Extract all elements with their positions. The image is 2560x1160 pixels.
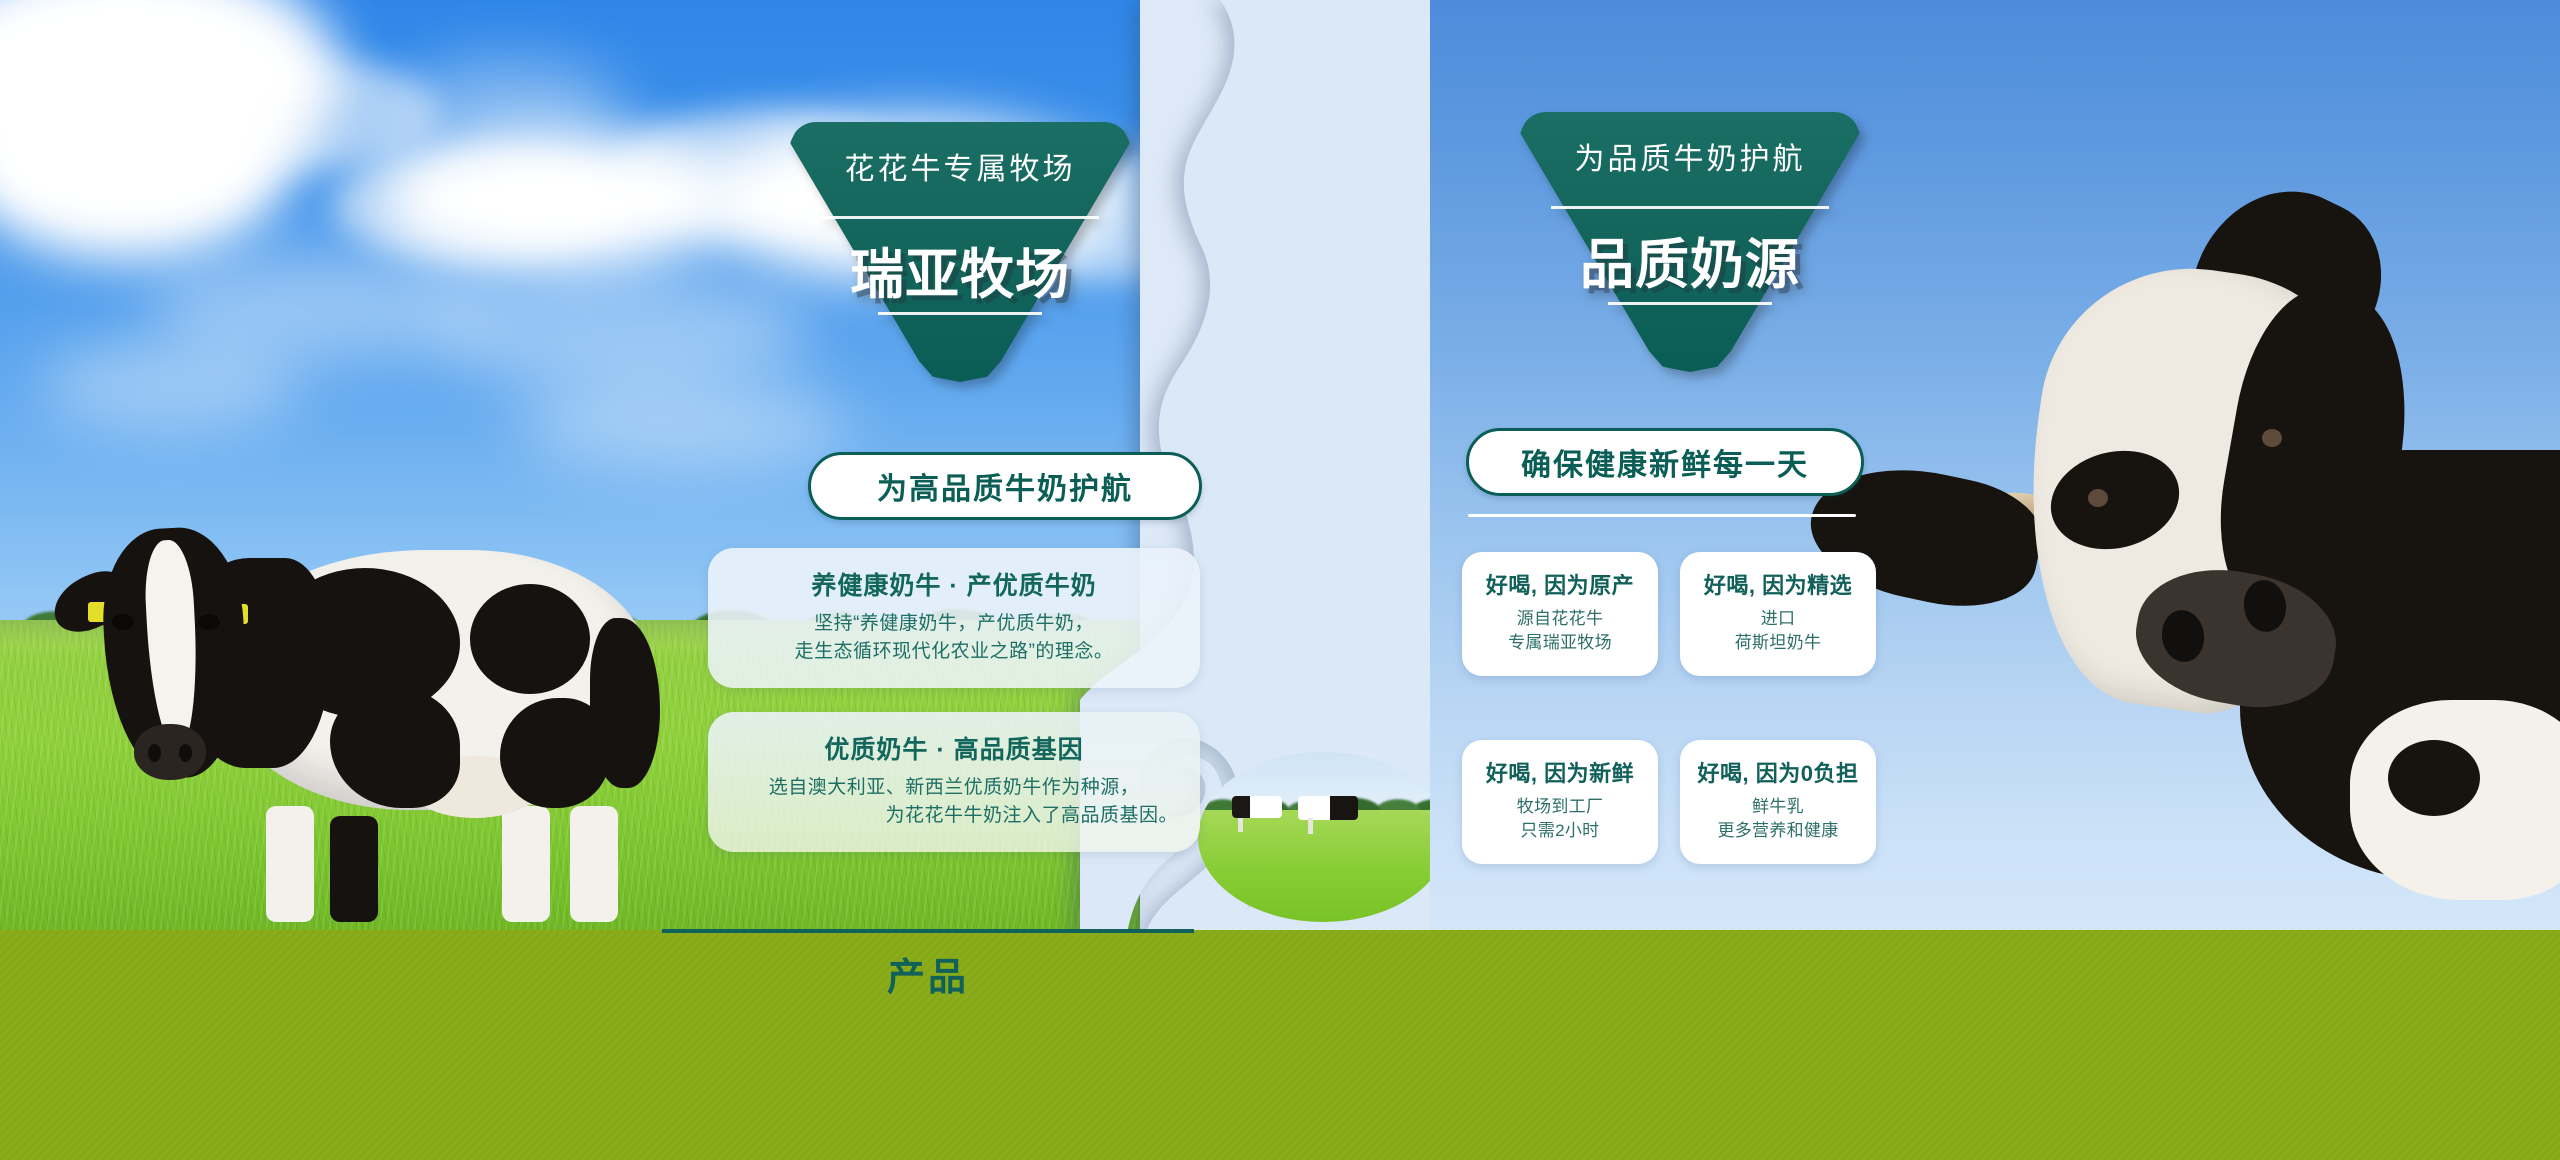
- feature-card-line-2: 只需2小时: [1470, 819, 1650, 843]
- right-headline-pill[interactable]: 确保健康新鲜每一天: [1466, 428, 1864, 496]
- badge-small-label: 花花牛专属牧场: [790, 144, 1130, 188]
- right-headline-pill-label: 确保健康新鲜每一天: [1521, 440, 1809, 484]
- feature-card-title: 好喝, 因为精选: [1688, 568, 1868, 600]
- feature-card-line-1: 进口: [1688, 607, 1868, 631]
- badge-hairline-top: [1551, 206, 1830, 209]
- feature-card-title: 好喝, 因为原产: [1470, 568, 1650, 600]
- feature-card-freshness[interactable]: 好喝, 因为新鲜 牧场到工厂 只需2小时: [1462, 740, 1658, 864]
- feature-card-line-1: 鲜牛乳: [1688, 795, 1868, 819]
- feature-card-line-2: 专属瑞亚牧场: [1470, 631, 1650, 655]
- feature-card-line-1: 源自花花牛: [1470, 607, 1650, 631]
- cloud-icon: [40, 340, 300, 430]
- cloud-icon: [430, 270, 810, 390]
- cow-illustration-left: [30, 488, 670, 908]
- badge-small-label: 为品质牛奶护航: [1520, 134, 1860, 178]
- feature-card-selection[interactable]: 好喝, 因为精选 进口 荷斯坦奶牛: [1680, 552, 1876, 676]
- info-card-title: 养健康奶牛 · 产优质牛奶: [730, 566, 1178, 602]
- left-headline-pill[interactable]: 为高品质牛奶护航: [808, 452, 1202, 520]
- info-card-line-2: 走生态循环现代化农业之路”的理念。: [730, 638, 1178, 666]
- feature-card-title: 好喝, 因为0负担: [1688, 756, 1868, 788]
- badge-big-label: 品质奶源: [1520, 220, 1860, 299]
- info-card-healthy-cows[interactable]: 养健康奶牛 · 产优质牛奶 坚持“养健康奶牛，产优质牛奶， 走生态循环现代化农业…: [708, 548, 1200, 688]
- badge-hairline-top: [821, 216, 1100, 219]
- feature-card-line-1: 牧场到工厂: [1470, 795, 1650, 819]
- feature-card-title: 好喝, 因为新鲜: [1470, 756, 1650, 788]
- teal-divider-rule: [662, 929, 1194, 933]
- info-card-title: 优质奶牛 · 高品质基因: [730, 730, 1178, 766]
- banner-stage: 花花牛专属牧场 瑞亚牧场 为高品质牛奶护航 养健康奶牛 · 产优质牛奶 坚持“养…: [0, 0, 2560, 1160]
- clipped-section-heading: 产品: [662, 946, 1194, 1001]
- feature-card-zero-burden[interactable]: 好喝, 因为0负担 鲜牛乳 更多营养和健康: [1680, 740, 1876, 864]
- bottom-olive-band: [0, 930, 2560, 1160]
- quality-milk-source-badge: 为品质牛奶护航 品质奶源: [1520, 112, 1860, 372]
- feature-card-line-2: 荷斯坦奶牛: [1688, 631, 1868, 655]
- grazing-cow-icon: [1232, 796, 1282, 818]
- badge-hairline-bottom: [878, 312, 1041, 315]
- info-card-quality-genes[interactable]: 优质奶牛 · 高品质基因 选自澳大利亚、新西兰优质奶牛作为种源， 为花花牛牛奶注…: [708, 712, 1200, 852]
- info-card-line-1: 坚持“养健康奶牛，产优质牛奶，: [730, 610, 1178, 638]
- grazing-cows-inset: [1198, 752, 1448, 922]
- badge-big-label: 瑞亚牧场: [790, 230, 1130, 309]
- ruiya-pasture-badge: 花花牛专属牧场 瑞亚牧场: [790, 122, 1130, 382]
- cloud-icon: [520, 380, 850, 470]
- white-divider-rule: [1468, 514, 1856, 517]
- feature-card-line-2: 更多营养和健康: [1688, 819, 1868, 843]
- grazing-cow-icon: [1298, 796, 1358, 820]
- feature-card-origin[interactable]: 好喝, 因为原产 源自花花牛 专属瑞亚牧场: [1462, 552, 1658, 676]
- info-card-line-1: 选自澳大利亚、新西兰优质奶牛作为种源，: [730, 774, 1178, 802]
- info-card-line-2: 为花花牛牛奶注入了高品质基因。: [730, 802, 1178, 830]
- badge-hairline-bottom: [1608, 302, 1771, 305]
- cow-illustration-right: [1900, 180, 2560, 880]
- left-headline-pill-label: 为高品质牛奶护航: [877, 464, 1133, 508]
